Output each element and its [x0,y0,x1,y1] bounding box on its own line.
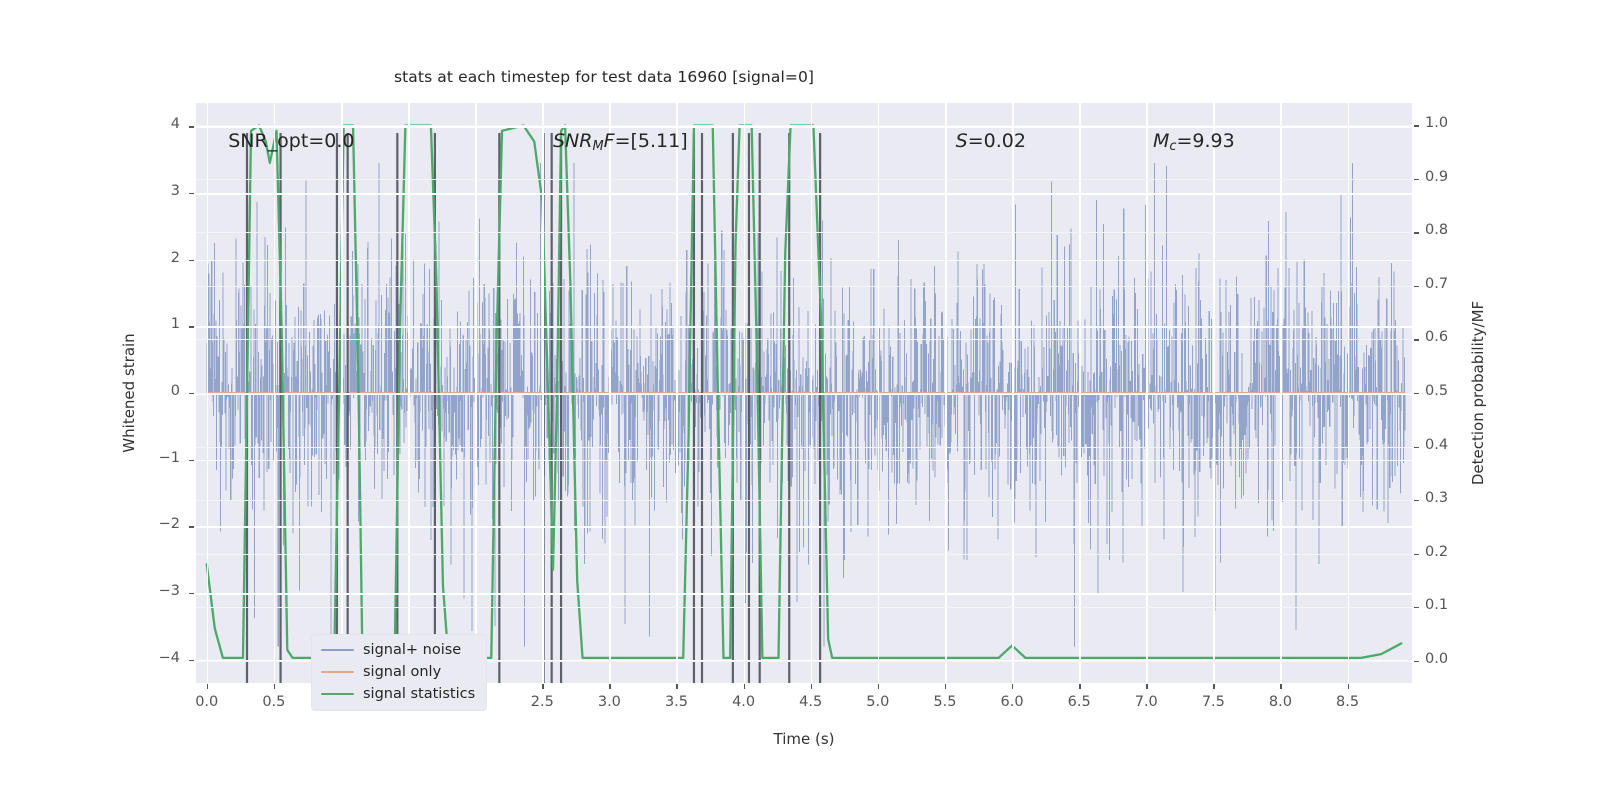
signal-noise-series [207,163,1405,646]
x-tick-label: 0.0 [191,694,223,710]
x-tickmark [1012,684,1013,689]
gridline-horizontal [196,593,1412,595]
y-tickmark-left [189,260,194,261]
annotation-chirp-mass: Mc=9.93 [1153,132,1235,154]
legend-swatch-icon [321,649,354,651]
x-tickmark [1280,684,1281,689]
gridline-horizontal-minor [196,554,1412,555]
legend[interactable]: signal+ noisesignal onlysignal statistic… [311,634,487,711]
y-tickmark-left [189,393,194,394]
y-tickmark-right [1414,286,1419,287]
y-tick-label-left: 4 [0,116,180,132]
y-tick-label-left: 0 [0,383,180,399]
legend-label: signal only [363,664,441,680]
gridline-horizontal-minor [196,393,1412,394]
y-tick-label-left: 1 [0,316,180,332]
annotation-s-stat: S=0.02 [956,132,1026,151]
x-axis-label: Time (s) [774,730,835,748]
gridline-horizontal-minor [196,607,1412,608]
gridline-horizontal [196,326,1412,328]
x-tickmark [676,684,677,689]
x-tickmark [1146,684,1147,689]
y-tickmark-left [189,526,194,527]
legend-label: signal+ noise [363,642,461,658]
plot-area: SNR_opt=0.0SNRMF=[5.11]S=0.02Mc=9.93 [196,103,1412,683]
x-tickmark [1079,684,1080,689]
y-tick-label-left: −4 [0,650,180,666]
x-tick-label: 7.5 [1197,694,1229,710]
y-tickmark-right [1414,607,1419,608]
y-tick-label-right: 0.7 [1425,276,1448,292]
gridline-horizontal-minor [196,286,1412,287]
x-tick-label: 3.5 [660,694,692,710]
x-tick-label: 6.5 [1063,694,1095,710]
x-tick-label: 5.5 [929,694,961,710]
y-tickmark-right [1414,447,1419,448]
y-tick-label-right: 0.3 [1425,490,1448,506]
gridline-horizontal-minor [196,339,1412,340]
gridline-horizontal-minor [196,125,1412,126]
gridline-horizontal-minor [196,232,1412,233]
legend-label: signal statistics [363,686,475,702]
y-tickmark-left [189,193,194,194]
y-tick-label-right: 1.0 [1425,115,1448,131]
figure: stats at each timestep for test data 169… [0,0,1600,800]
y-axis-label-right: Detection probability/MF [1469,301,1487,485]
y-tickmark-right [1414,179,1419,180]
x-tick-label: 8.5 [1332,694,1364,710]
gridline-horizontal [196,260,1412,262]
x-tick-label: 2.5 [526,694,558,710]
legend-swatch-icon [321,671,354,673]
legend-item-0[interactable]: signal+ noise [321,640,475,660]
y-tickmark-right [1414,661,1419,662]
x-tickmark [945,684,946,689]
x-tickmark [609,684,610,689]
y-tick-label-right: 0.6 [1425,329,1448,345]
x-tick-label: 4.0 [728,694,760,710]
annotation-snr-opt: SNR_opt=0.0 [228,132,354,151]
annotation-snr-mf: SNRMF=[5.11] [553,132,688,154]
y-tick-label-right: 0.4 [1425,437,1448,453]
gridline-horizontal [196,193,1412,195]
gridline-horizontal [196,526,1412,528]
page-title: stats at each timestep for test data 169… [0,68,1600,86]
x-tick-label: 3.0 [593,694,625,710]
y-tickmark-left [189,126,194,127]
x-tick-label: 6.0 [996,694,1028,710]
y-tickmark-left [189,593,194,594]
gridline-horizontal [196,126,1412,128]
x-tickmark [811,684,812,689]
gridline-horizontal [196,460,1412,462]
x-tickmark [274,684,275,689]
x-tick-label: 8.0 [1264,694,1296,710]
x-tickmark [1348,684,1349,689]
x-tickmark [207,684,208,689]
y-tickmark-right [1414,500,1419,501]
y-tick-label-left: 3 [0,183,180,199]
x-tick-label: 7.0 [1130,694,1162,710]
x-tick-label: 0.5 [258,694,290,710]
y-tick-label-right: 0.5 [1425,383,1448,399]
x-tickmark [878,684,879,689]
y-tickmark-right [1414,393,1419,394]
gridline-horizontal-minor [196,447,1412,448]
y-tick-label-left: 2 [0,250,180,266]
y-tick-label-right: 0.2 [1425,544,1448,560]
y-tickmark-left [189,660,194,661]
gridline-horizontal-minor [196,500,1412,501]
x-tick-label: 4.5 [795,694,827,710]
legend-item-2[interactable]: signal statistics [321,684,475,704]
y-tick-label-right: 0.0 [1425,651,1448,667]
y-tickmark-right [1414,554,1419,555]
y-tickmark-right [1414,125,1419,126]
x-tick-label: 5.0 [862,694,894,710]
y-tickmark-left [189,460,194,461]
legend-swatch-icon [321,693,354,695]
gridline-horizontal-minor [196,179,1412,180]
y-tick-label-right: 0.9 [1425,169,1448,185]
x-tickmark [744,684,745,689]
y-tick-label-right: 0.8 [1425,222,1448,238]
x-tickmark [1213,684,1214,689]
y-tickmark-right [1414,339,1419,340]
y-tickmark-right [1414,232,1419,233]
x-tickmark [542,684,543,689]
y-tick-label-left: −1 [0,450,180,466]
y-tick-label-left: −2 [0,516,180,532]
legend-item-1[interactable]: signal only [321,662,475,682]
y-tickmark-left [189,326,194,327]
y-tick-label-left: −3 [0,583,180,599]
y-tick-label-right: 0.1 [1425,597,1448,613]
